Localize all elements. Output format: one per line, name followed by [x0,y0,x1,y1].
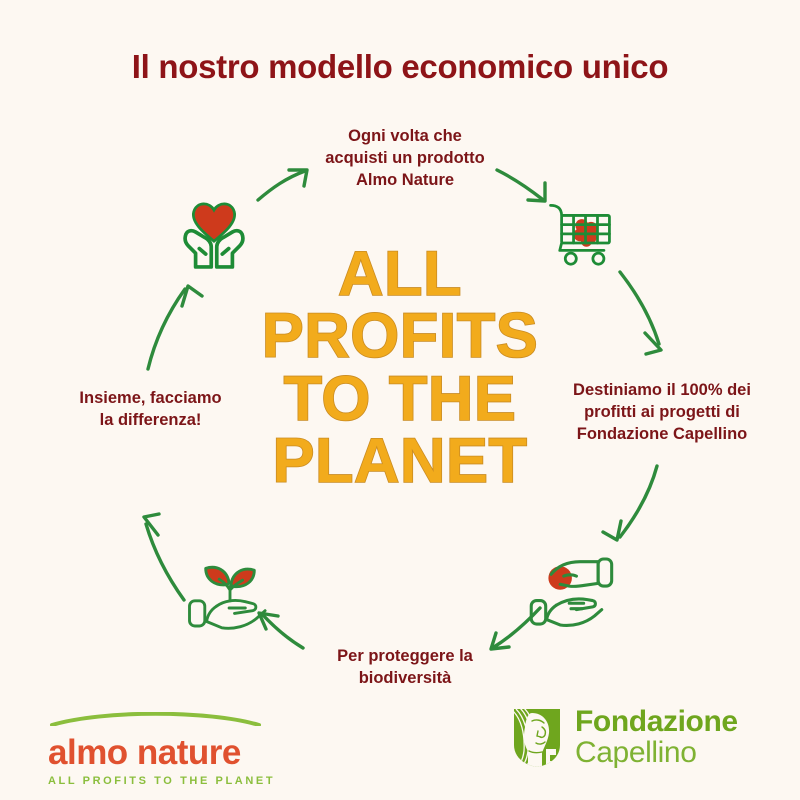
headline-line-2: PROFITS [240,305,560,367]
hand-holding-seedling-icon [182,545,278,640]
arrow-right [620,272,661,354]
almo-nature-logo: almo nature ALL PROFITS TO THE PLANET [48,712,275,787]
fondazione-line-2: Capellino [575,738,738,769]
almo-nature-wordmark: almo nature [48,735,275,770]
step-caption-purchase: Ogni volta che acquisti un prodotto Almo… [295,126,515,191]
fondazione-capellino-shield-icon [512,707,562,769]
infographic-canvas: Il nostro modello economico unico [0,0,800,800]
arrow-upleft [148,286,202,369]
headline-line-3: TO THE [240,368,560,430]
step-caption-allocate: Destiniamo il 100% dei profitti ai proge… [548,380,776,445]
step-caption-biodiversity: Per proteggere la biodiversità [300,646,510,690]
fondazione-capellino-logo: Fondazione Capellino [512,707,738,769]
center-headline: ALL PROFITS TO THE PLANET [240,243,560,492]
almo-nature-tagline: ALL PROFITS TO THE PLANET [48,775,275,787]
headline-line-4: PLANET [240,430,560,492]
almo-nature-arc-icon [48,712,263,726]
page-title: Il nostro modello economico unico [0,48,800,86]
hand-giving-coin-icon [524,543,618,636]
fondazione-line-1: Fondazione [575,707,738,738]
fondazione-capellino-wordmark: Fondazione Capellino [575,707,738,769]
step-caption-together: Insieme, facciamo la differenza! [48,388,253,432]
arrow-bottomright [603,466,657,540]
headline-line-1: ALL [240,243,560,305]
arrow-left [144,514,184,600]
